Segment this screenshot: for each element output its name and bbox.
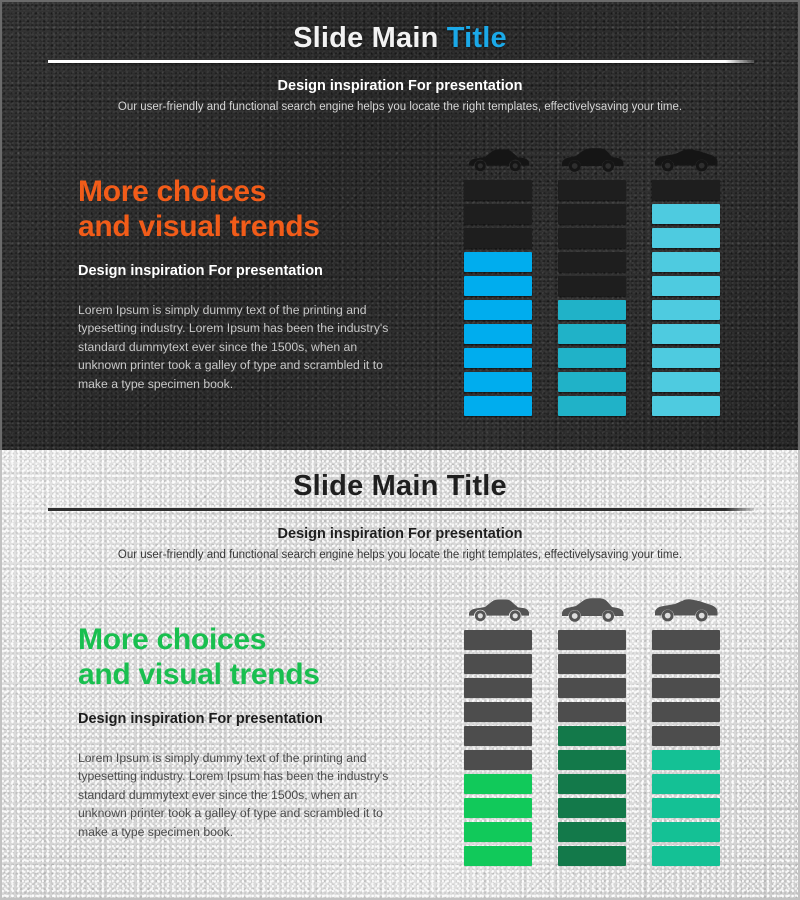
roadster-car-icon xyxy=(652,592,720,626)
title-divider xyxy=(48,60,754,63)
bar-segment xyxy=(464,798,532,818)
content-body-text: Lorem Ipsum is simply dummy text of the … xyxy=(78,749,398,842)
chart-column-roadster xyxy=(652,142,720,416)
bar-segment xyxy=(652,324,720,344)
bar-segment xyxy=(464,726,532,746)
page-title-main: Slide Main Title xyxy=(293,470,507,502)
page-description: Our user-friendly and functional search … xyxy=(2,101,798,113)
bar-segment xyxy=(558,228,626,248)
bar-segment xyxy=(464,180,532,200)
bar-segment xyxy=(652,750,720,770)
bar-segment xyxy=(558,750,626,770)
bar-segment xyxy=(464,630,532,650)
bar-segment xyxy=(558,348,626,368)
bar-segment xyxy=(464,372,532,392)
bar-segment xyxy=(558,372,626,392)
chart-column-convertible xyxy=(464,142,532,416)
bar-segment xyxy=(558,774,626,794)
bar-segment xyxy=(464,228,532,248)
bar-segment xyxy=(464,750,532,770)
bar-segment xyxy=(652,228,720,248)
page-title: Slide Main Title xyxy=(2,22,798,55)
content-subheading: Design inspiration For presentation xyxy=(78,263,418,279)
bar-segment xyxy=(464,396,532,416)
bar-segment xyxy=(558,678,626,698)
bar-segment xyxy=(558,726,626,746)
bar-segment xyxy=(464,846,532,866)
content-subheading: Design inspiration For presentation xyxy=(78,711,418,727)
bar-segment xyxy=(558,204,626,224)
content-block: More choices and visual trends Design in… xyxy=(78,622,418,842)
bar-segment xyxy=(652,846,720,866)
bar-segment xyxy=(652,180,720,200)
bar-segment xyxy=(652,372,720,392)
bar-segment xyxy=(558,180,626,200)
bar-segment xyxy=(464,300,532,320)
segmented-bar-chart xyxy=(464,592,720,866)
bar-segment xyxy=(652,252,720,272)
chart-column-coupe xyxy=(558,592,626,866)
bar-segment xyxy=(464,348,532,368)
bar-segment xyxy=(558,702,626,722)
bar-segment xyxy=(464,204,532,224)
bar-segment xyxy=(464,702,532,722)
content-heading: More choices and visual trends xyxy=(78,174,418,245)
bar-segment xyxy=(558,252,626,272)
bar-segment xyxy=(652,276,720,296)
convertible-car-icon xyxy=(464,592,532,626)
content-heading-line-2: and visual trends xyxy=(78,657,418,692)
page-title-accent: Title xyxy=(447,22,507,54)
slide-light: Slide Main Title Design inspiration For … xyxy=(0,450,800,900)
content-heading-line-1: More choices xyxy=(78,174,418,209)
bar-stack-convertible xyxy=(464,630,532,866)
bar-segment xyxy=(464,774,532,794)
page-description: Our user-friendly and functional search … xyxy=(2,549,798,561)
slide-deck: Slide Main Title Design inspiration For … xyxy=(0,0,800,900)
segmented-bar-chart xyxy=(464,142,720,416)
slide-dark: Slide Main Title Design inspiration For … xyxy=(0,0,800,450)
bar-segment xyxy=(558,396,626,416)
bar-segment xyxy=(652,204,720,224)
bar-segment xyxy=(652,822,720,842)
bar-segment xyxy=(464,276,532,296)
bar-stack-roadster xyxy=(652,180,720,416)
content-heading: More choices and visual trends xyxy=(78,622,418,693)
bar-segment xyxy=(558,300,626,320)
bar-segment xyxy=(464,822,532,842)
bar-segment xyxy=(464,252,532,272)
bar-segment xyxy=(558,630,626,650)
bar-stack-coupe xyxy=(558,180,626,416)
bar-segment xyxy=(652,678,720,698)
content-body-text: Lorem Ipsum is simply dummy text of the … xyxy=(78,301,398,394)
bar-segment xyxy=(652,774,720,794)
bar-segment xyxy=(464,654,532,674)
page-title-main: Slide Main xyxy=(293,22,447,54)
chart-column-roadster xyxy=(652,592,720,866)
bar-stack-coupe xyxy=(558,630,626,866)
chart-column-convertible xyxy=(464,592,532,866)
convertible-car-icon xyxy=(464,142,532,176)
bar-segment xyxy=(652,654,720,674)
content-heading-line-2: and visual trends xyxy=(78,209,418,244)
bar-segment xyxy=(652,702,720,722)
bar-segment xyxy=(464,678,532,698)
content-heading-line-1: More choices xyxy=(78,622,418,657)
chart-column-coupe xyxy=(558,142,626,416)
coupe-car-icon xyxy=(558,142,626,176)
bar-stack-roadster xyxy=(652,630,720,866)
bar-segment xyxy=(558,276,626,296)
title-divider xyxy=(48,508,754,511)
page-subtitle: Design inspiration For presentation xyxy=(2,78,798,94)
bar-segment xyxy=(464,324,532,344)
bar-segment xyxy=(558,822,626,842)
content-block: More choices and visual trends Design in… xyxy=(78,174,418,394)
bar-segment xyxy=(652,726,720,746)
bar-segment xyxy=(652,798,720,818)
bar-segment xyxy=(558,846,626,866)
bar-segment xyxy=(558,798,626,818)
bar-stack-convertible xyxy=(464,180,532,416)
bar-segment xyxy=(652,630,720,650)
bar-segment xyxy=(558,324,626,344)
page-subtitle: Design inspiration For presentation xyxy=(2,526,798,542)
bar-segment xyxy=(652,300,720,320)
bar-segment xyxy=(652,348,720,368)
roadster-car-icon xyxy=(652,142,720,176)
bar-segment xyxy=(652,396,720,416)
coupe-car-icon xyxy=(558,592,626,626)
page-title: Slide Main Title xyxy=(2,470,798,503)
bar-segment xyxy=(558,654,626,674)
